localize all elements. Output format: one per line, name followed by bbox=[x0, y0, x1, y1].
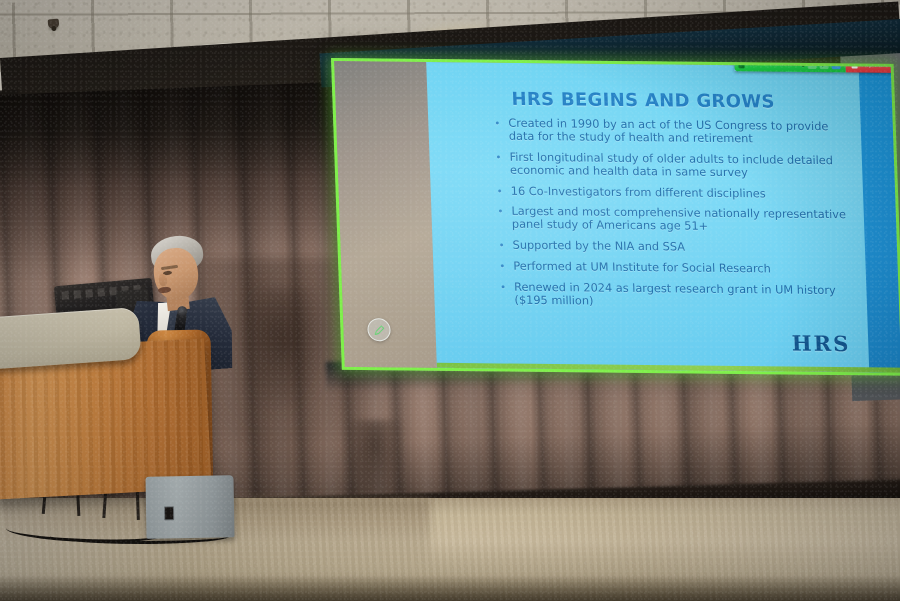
lectern-reading-surface bbox=[0, 307, 142, 369]
powerpoint-slide: HRS BEGINS AND GROWS • Created in 1990 b… bbox=[426, 62, 900, 373]
mute-control-icon[interactable]: ●● bbox=[808, 61, 817, 69]
stop-share-label: Stop Share bbox=[861, 63, 889, 69]
bullet-marker-icon: • bbox=[495, 152, 504, 163]
bullet-text: Created in 1990 by an act of the US Cong… bbox=[508, 118, 855, 147]
bullet-marker-icon: • bbox=[497, 186, 506, 197]
slide-bullet-item: • 16 Co-Investigators from different dis… bbox=[497, 185, 858, 202]
bullet-text: Supported by the NIA and SSA bbox=[512, 240, 859, 256]
background-person-silhouette bbox=[345, 420, 405, 500]
pen-annotation-icon[interactable] bbox=[367, 318, 391, 341]
slide-bullet-item: • First longitudinal study of older adul… bbox=[495, 151, 856, 181]
bullet-marker-icon: • bbox=[499, 262, 508, 273]
slide-title: HRS BEGINS AND GROWS bbox=[511, 89, 775, 113]
presentation-photo-scene: HRS BEGINS AND GROWS • Created in 1990 b… bbox=[0, 0, 900, 601]
zoom-share-border: HRS BEGINS AND GROWS • Created in 1990 b… bbox=[331, 58, 900, 376]
bullet-text: Performed at UM Institute for Social Res… bbox=[513, 261, 860, 277]
sprinkler-head-icon bbox=[48, 19, 60, 29]
stop-square-icon bbox=[852, 62, 858, 68]
slide-bullet-list: • Created in 1990 by an act of the US Co… bbox=[494, 118, 861, 319]
screen-share-icon bbox=[738, 60, 744, 68]
bullet-text: 16 Co-Investigators from different disci… bbox=[511, 185, 858, 201]
bullet-marker-icon: • bbox=[494, 119, 503, 130]
slide-accent-band bbox=[859, 67, 900, 373]
lectern-port-icon bbox=[164, 506, 174, 520]
floor-front-edge bbox=[0, 575, 900, 601]
bullet-marker-icon: • bbox=[500, 282, 509, 293]
lectern-base bbox=[145, 475, 234, 539]
more-control-icon[interactable]: ⋯ bbox=[832, 61, 841, 69]
bullet-text: Largest and most comprehensive nationall… bbox=[511, 206, 858, 235]
slide-bullet-item: • Supported by the NIA and SSA bbox=[498, 240, 859, 257]
slide-bottom-accent-bar bbox=[437, 363, 900, 373]
stage-floor bbox=[0, 498, 900, 601]
slide-bullet-item: • Performed at UM Institute for Social R… bbox=[499, 261, 860, 278]
slide-bullet-item: • Renewed in 2024 as largest research gr… bbox=[500, 281, 861, 311]
bullet-marker-icon: • bbox=[497, 207, 506, 218]
bullet-text: First longitudinal study of older adults… bbox=[509, 152, 856, 181]
slide-bullet-item: • Largest and most comprehensive nationa… bbox=[497, 206, 858, 236]
hrs-logo: HRS bbox=[791, 331, 850, 357]
desktop-letterbox-area bbox=[334, 61, 437, 368]
video-control-icon[interactable]: ▶ bbox=[820, 61, 829, 69]
sharing-status-label: You are screen sharing bbox=[747, 61, 804, 68]
bullet-marker-icon: • bbox=[498, 241, 507, 252]
bullet-text: Renewed in 2024 as largest research gran… bbox=[514, 282, 861, 311]
projection-screen: HRS BEGINS AND GROWS • Created in 1990 b… bbox=[331, 58, 900, 376]
slide-bullet-item: • Created in 1990 by an act of the US Co… bbox=[494, 118, 855, 148]
